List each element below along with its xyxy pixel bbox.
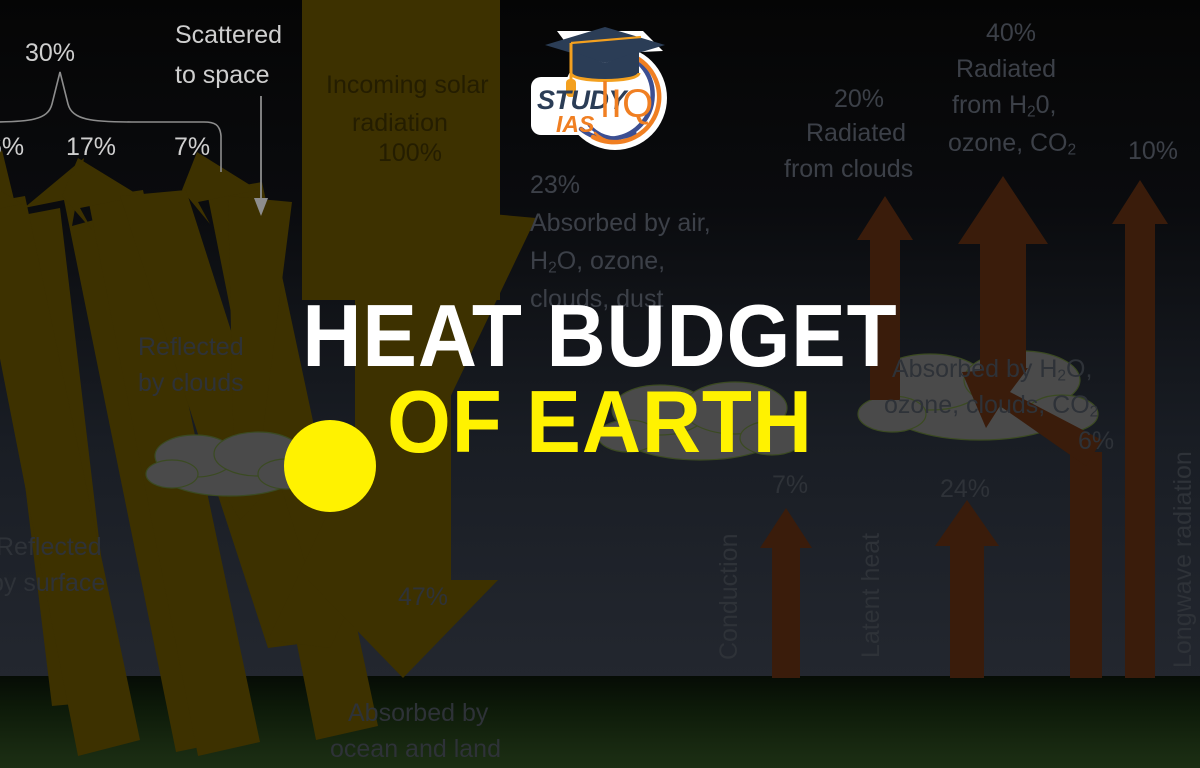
label-reflected-surface-l2: by surface [0,566,105,600]
label-incoming-l3: 100% [378,136,442,170]
label-absorbed-atm-l3: clouds, dust [530,282,663,316]
label-incoming-l1: Incoming solar [326,68,489,102]
label-scattered-to-space-l2: to space [175,58,270,92]
label-scattered-to-space-l1: Scattered [175,18,282,52]
label-radiated-clouds-pct: 20% [834,82,884,116]
label-reflected-7: 7% [174,130,210,164]
label-longwave-radiation: Longwave radiation [1166,451,1200,668]
label-radiated-clouds-l2: from clouds [784,152,913,186]
label-absorbed-gas-l2: ozone, clouds, CO2 [884,388,1098,429]
label-reflected-17: 17% [66,130,116,164]
heat-budget-infographic: 30% Scattered to space 6% 17% 7% Incomin… [0,0,1200,768]
label-reflected-clouds-l2: by clouds [138,366,244,400]
label-radiated-gas-pct: 40% [986,16,1036,50]
label-reflected-clouds-l1: Reflected [138,330,244,364]
label-absorbed-surface-l1: Absorbed by [348,696,488,730]
label-radiated-gas-l2: from H20, [952,88,1056,129]
label-reflected-6: 6% [0,130,24,164]
label-radiated-clouds-l1: Radiated [806,116,906,150]
label-absorbed-surface-l2: ocean and land [330,732,501,766]
label-incoming-l2: radiation [352,106,448,140]
label-latent-pct: 24% [940,472,990,506]
label-reflection-total: 30% [25,36,75,70]
label-reflected-surface-l1: Reflected [0,530,102,564]
label-absorbed-atm-l2: H2O, ozone, [530,244,665,285]
label-backradiation-6: 6% [1078,424,1114,458]
label-radiated-gas-l3: ozone, CO2 [948,126,1076,167]
label-radiated-gas-l1: Radiated [956,52,1056,86]
label-longwave-10: 10% [1128,134,1178,168]
logo-text-iq: IQ [611,82,653,126]
label-absorbed-47: 47% [398,580,448,614]
studyiq-ias-logo[interactable]: STUDY IAS IQ [523,21,683,166]
label-conduction: Conduction [712,534,746,660]
label-absorbed-atm-l1: Absorbed by air, [530,206,711,240]
label-absorbed-atm-pct: 23% [530,168,580,202]
logo-text-ias: IAS [556,111,595,137]
label-latent-heat: Latent heat [854,533,888,658]
scattered-to-space-arrow [254,96,268,216]
label-conduction-pct: 7% [772,468,808,502]
